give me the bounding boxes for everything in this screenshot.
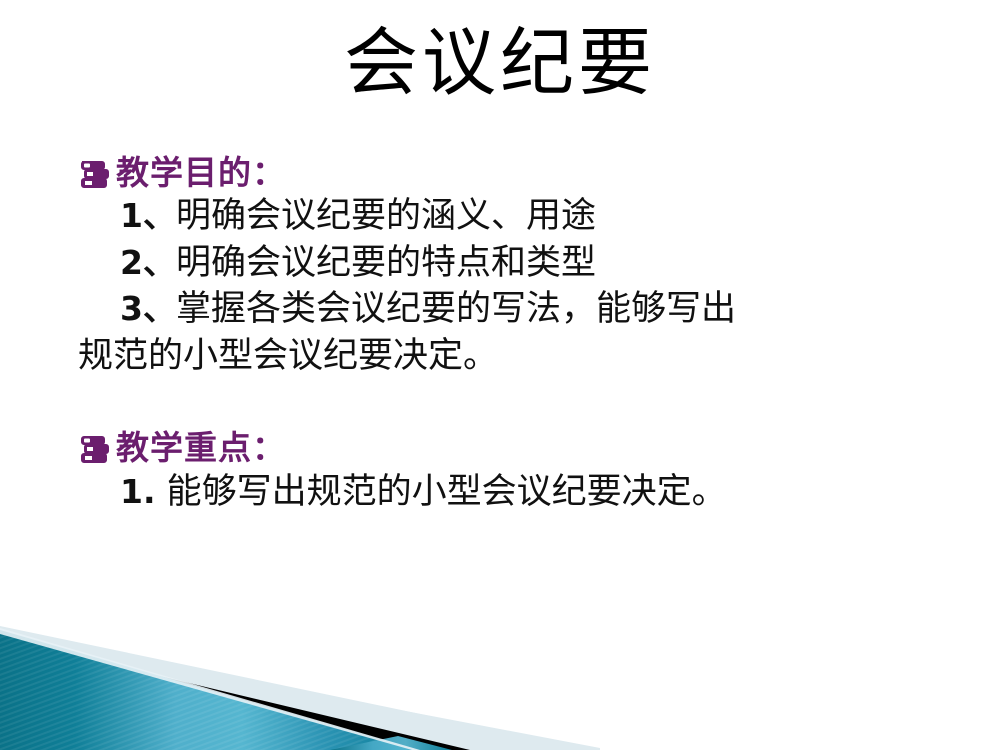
list-item-number: 1	[120, 196, 143, 235]
slide: 会议纪要	[0, 0, 1000, 750]
list-item-separator: 、	[143, 243, 176, 282]
section-heading-text: 教学目的：	[116, 152, 286, 193]
list-item-text: 明确会议纪要的特点和类型	[176, 243, 596, 283]
list-item-text: 掌握各类会议纪要的写法，能够写出	[176, 289, 736, 329]
section-heading-objectives: 教学目的：	[78, 152, 938, 193]
objectives-wrap-line: 规范的小型会议纪要决定。	[78, 333, 938, 380]
list-item-text: 明确会议纪要的涵义、用途	[176, 196, 596, 236]
list-item-separator: 、	[143, 289, 176, 328]
page-title: 会议纪要	[0, 26, 1000, 100]
section-heading-key-points: 教学重点：	[78, 427, 938, 468]
objectives-list: 1、明确会议纪要的涵义、用途 2、明确会议纪要的特点和类型 3、掌握各类会议纪要…	[78, 193, 938, 333]
books-stack-icon	[78, 433, 114, 465]
list-item-separator: 、	[143, 196, 176, 235]
books-stack-icon	[78, 158, 114, 190]
list-item-number: 2	[120, 243, 143, 282]
list-item: 3、掌握各类会议纪要的写法，能够写出	[78, 286, 938, 333]
list-item-text: 能够写出规范的小型会议纪要决定。	[156, 472, 727, 512]
bottom-left-banner-graphic	[0, 610, 1000, 750]
slide-body: 教学目的： 1、明确会议纪要的涵义、用途 2、明确会议纪要的特点和类型 3、掌握…	[78, 152, 938, 515]
list-item-separator: .	[143, 472, 156, 511]
section-key-points: 教学重点： 1. 能够写出规范的小型会议纪要决定。	[78, 427, 938, 515]
list-item-number: 1	[120, 472, 143, 511]
key-points-list: 1. 能够写出规范的小型会议纪要决定。	[78, 469, 938, 516]
list-item: 1. 能够写出规范的小型会议纪要决定。	[78, 469, 938, 516]
list-item: 1、明确会议纪要的涵义、用途	[78, 193, 938, 240]
list-item-number: 3	[120, 289, 143, 328]
section-heading-text: 教学重点：	[116, 427, 286, 468]
section-spacer	[78, 379, 938, 427]
section-objectives: 教学目的： 1、明确会议纪要的涵义、用途 2、明确会议纪要的特点和类型 3、掌握…	[78, 152, 938, 379]
list-item: 2、明确会议纪要的特点和类型	[78, 240, 938, 287]
